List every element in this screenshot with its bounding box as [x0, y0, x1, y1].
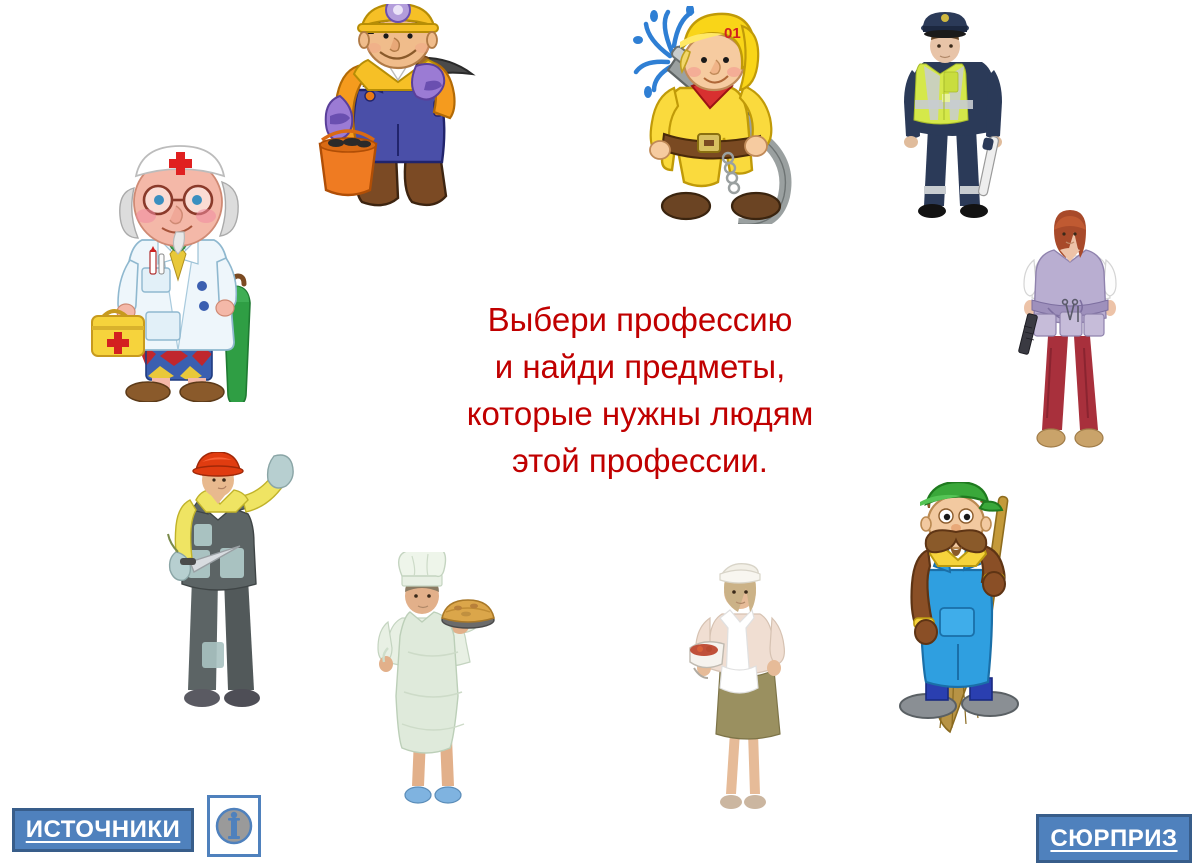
instruction-line-1: Выбери профессию [400, 296, 880, 343]
pie-icon [442, 600, 494, 628]
info-button[interactable] [207, 795, 261, 857]
figure-firefighter[interactable]: 01 [632, 6, 817, 224]
figure-hairdresser[interactable] [1018, 208, 1122, 456]
figure-doctor[interactable] [80, 140, 280, 402]
figure-builder[interactable] [162, 452, 294, 714]
hairdresser-pants [1037, 336, 1103, 447]
instruction-line-2: и найди предметы, [400, 343, 880, 390]
police-legs [918, 128, 988, 218]
surprise-button[interactable]: СЮРПРИЗ [1036, 814, 1192, 863]
slide-canvas: 01 [0, 0, 1200, 863]
info-icon [214, 803, 254, 849]
firefighter-boots [662, 193, 780, 219]
figure-miner[interactable] [308, 4, 498, 216]
figure-police-officer[interactable] [898, 8, 1008, 220]
hi-vis-vest [914, 64, 973, 124]
medical-bag-icon [92, 311, 144, 356]
sources-button[interactable]: ИСТОЧНИКИ [12, 808, 194, 852]
instruction-text: Выбери профессию и найди предметы, котор… [400, 296, 880, 484]
surprise-button-label: СЮРПРИЗ [1050, 825, 1177, 853]
figure-waitress[interactable] [684, 556, 794, 818]
firefighter-suit [650, 82, 771, 193]
builder-legs [184, 578, 260, 707]
instruction-line-3: которые нужны людям [400, 390, 880, 437]
janitor-head [920, 482, 1002, 556]
instruction-line-4: этой профессии. [400, 437, 880, 484]
coal-bucket-icon [320, 131, 376, 195]
doctor-head [120, 146, 238, 254]
waitress-legs [720, 732, 766, 809]
sources-button-label: ИСТОЧНИКИ [26, 816, 181, 844]
baton-icon [978, 136, 999, 197]
helmet-number: 01 [724, 25, 741, 42]
figure-cook[interactable] [372, 552, 496, 810]
waitress-head [720, 564, 760, 612]
cook-head [399, 552, 446, 614]
hairdresser-apron [1032, 250, 1108, 336]
figure-janitor[interactable] [892, 482, 1028, 736]
police-head [921, 12, 969, 63]
firefighter-head: 01 [680, 14, 758, 90]
